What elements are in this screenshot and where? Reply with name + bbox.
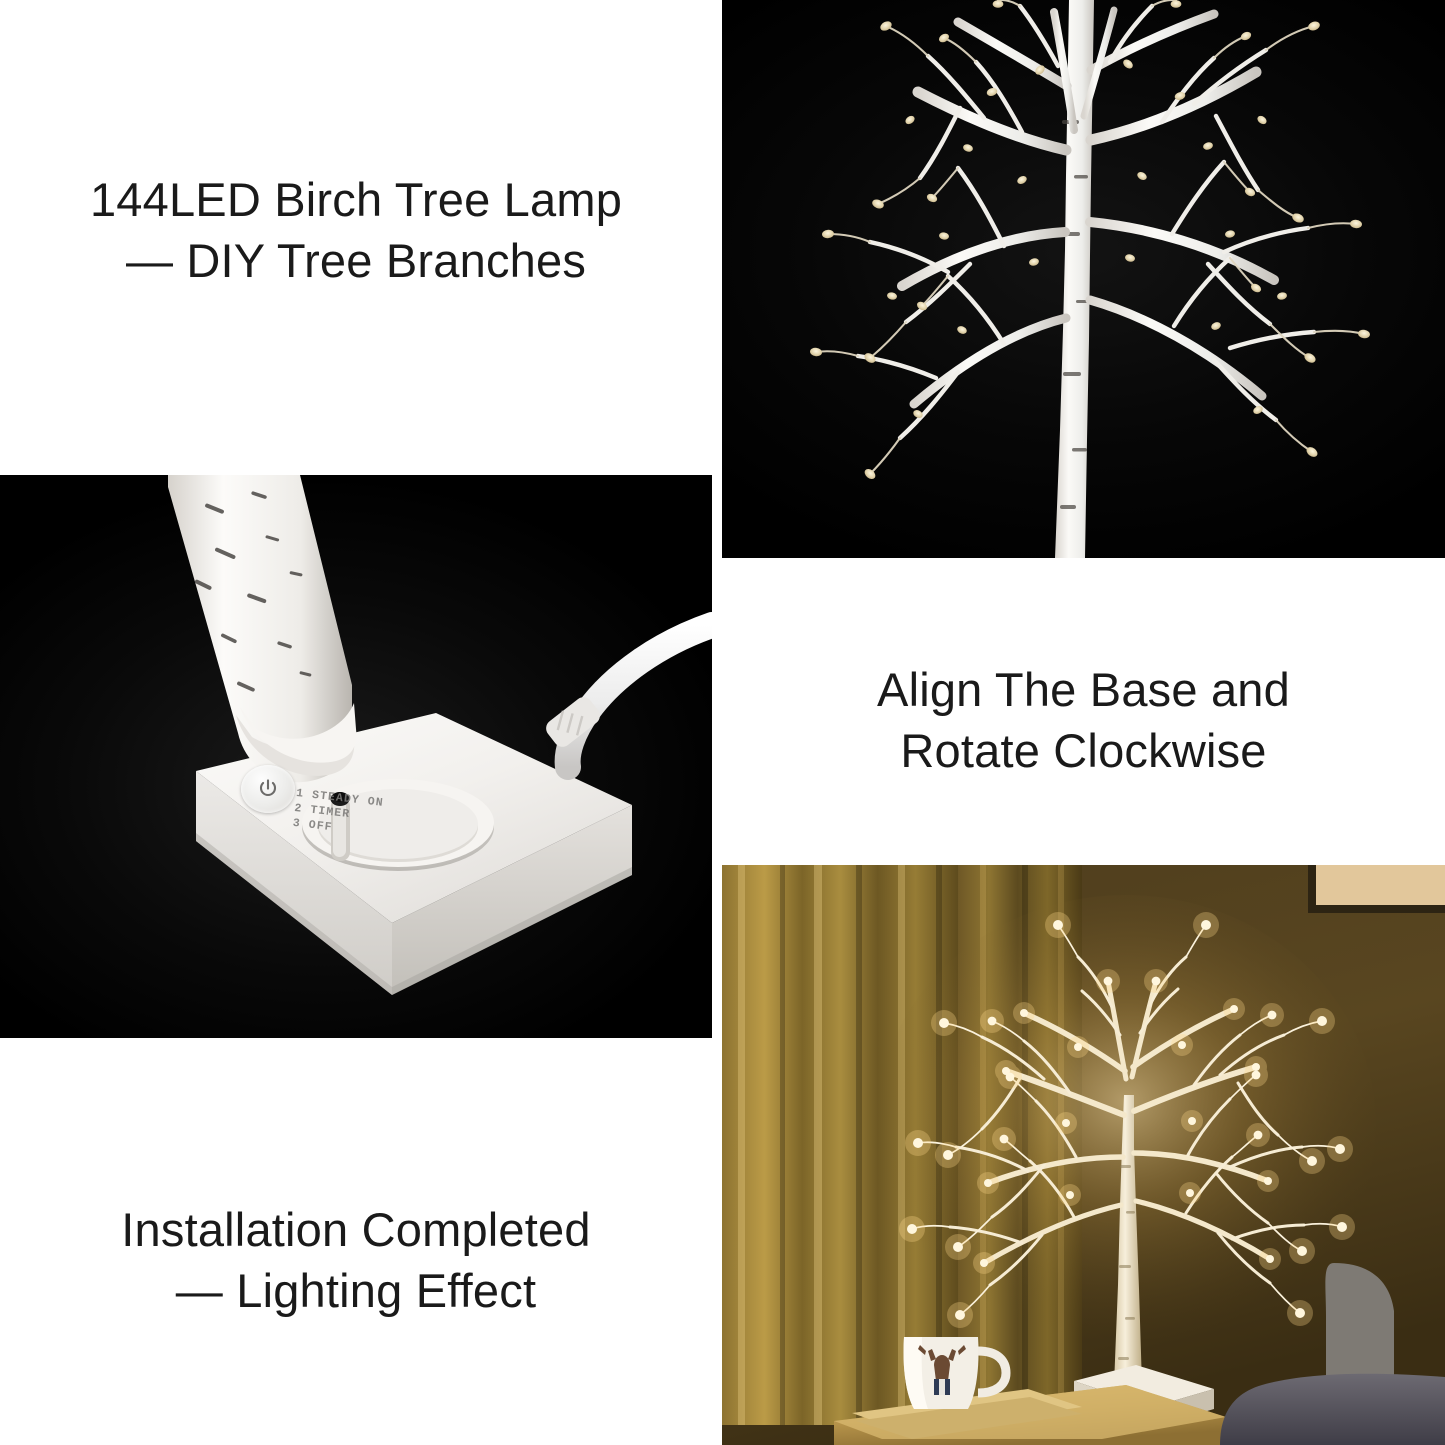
caption-title-line2: — DIY Tree Branches — [126, 230, 586, 291]
power-button[interactable] — [241, 765, 295, 813]
birch-branch-illustration — [722, 0, 1445, 558]
caption-align: Align The Base and Rotate Clockwise — [722, 620, 1445, 820]
photo-room-scene — [722, 865, 1445, 1445]
power-icon — [256, 777, 280, 801]
caption-title: 144LED Birch Tree Lamp — DIY Tree Branch… — [0, 130, 712, 330]
mode-legend: 1 STEADY ON 2 TIMER 3 OFF — [292, 786, 385, 841]
photo-birch-branches — [722, 0, 1445, 558]
caption-title-line1: 144LED Birch Tree Lamp — [90, 169, 622, 230]
caption-installed: Installation Completed — Lighting Effect — [0, 1160, 712, 1360]
caption-align-line1: Align The Base and — [877, 659, 1290, 720]
caption-align-line2: Rotate Clockwise — [900, 720, 1266, 781]
infographic-canvas: 144LED Birch Tree Lamp — DIY Tree Branch… — [0, 0, 1445, 1445]
caption-installed-line1: Installation Completed — [121, 1199, 590, 1260]
photo-lamp-base: 1 STEADY ON 2 TIMER 3 OFF — [0, 475, 712, 1038]
room-scene-illustration — [722, 865, 1445, 1445]
caption-installed-line2: — Lighting Effect — [176, 1260, 536, 1321]
lamp-base-illustration — [0, 475, 712, 1038]
